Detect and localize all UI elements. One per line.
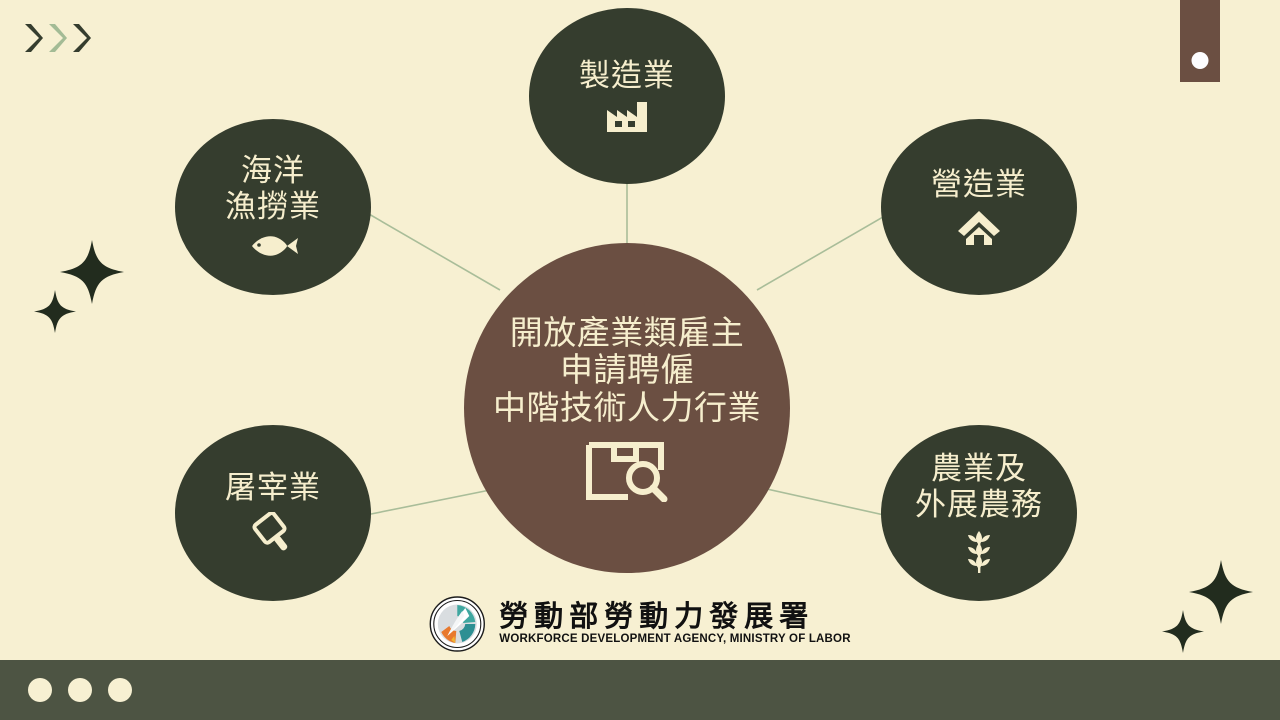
node-ocean-fishery-label: 海洋 漁撈業 xyxy=(225,153,321,223)
chevron-decoration-group xyxy=(22,22,92,54)
bottom-bar-dot-icon xyxy=(28,678,52,702)
fish-icon xyxy=(246,231,300,261)
connector-hub-fishery xyxy=(362,210,500,290)
agency-name-en: WORKFORCE DEVELOPMENT AGENCY, MINISTRY O… xyxy=(499,634,850,646)
factory-icon xyxy=(605,100,649,134)
cleaver-icon xyxy=(250,512,296,556)
connector-hub-slaughter xyxy=(366,487,505,515)
node-agriculture-label: 農業及 外展農務 xyxy=(915,451,1043,521)
bottom-bar-dots xyxy=(28,678,132,702)
house-icon xyxy=(956,209,1002,247)
bottom-bar-dot-icon xyxy=(68,678,92,702)
hub-label: 開放產業類雇主 申請聘僱 中階技術人力行業 xyxy=(493,314,761,426)
bottom-bar-dot-icon xyxy=(108,678,132,702)
chevron-right-icon xyxy=(22,22,44,54)
wheat-icon xyxy=(963,529,995,575)
node-agriculture[interactable]: 農業及 外展農務 xyxy=(881,425,1077,601)
node-manufacturing-label: 製造業 xyxy=(579,58,675,93)
node-construction-label: 營造業 xyxy=(931,167,1027,202)
node-slaughtering-label: 屠宰業 xyxy=(225,470,321,505)
node-ocean-fishery[interactable]: 海洋 漁撈業 xyxy=(175,119,371,295)
package-search-icon xyxy=(584,440,670,502)
chevron-right-icon xyxy=(70,22,92,54)
chevron-right-icon xyxy=(46,22,68,54)
bottom-bar xyxy=(0,660,1280,720)
wda-seal-logo xyxy=(429,596,485,652)
hub-node-open-industries[interactable]: 開放產業類雇主 申請聘僱 中階技術人力行業 xyxy=(464,243,790,573)
corner-tab-dot-icon xyxy=(1192,52,1209,69)
node-manufacturing[interactable]: 製造業 xyxy=(529,8,725,184)
node-construction[interactable]: 營造業 xyxy=(881,119,1077,295)
sparkle-decoration-left xyxy=(30,232,140,337)
connector-hub-agriculture xyxy=(758,487,893,517)
slide-canvas: 開放產業類雇主 申請聘僱 中階技術人力行業 製造業 海洋 漁撈業 xyxy=(0,0,1280,720)
connector-hub-construction xyxy=(757,210,895,290)
agency-brand: 勞動部勞動力發展署 WORKFORCE DEVELOPMENT AGENCY, … xyxy=(429,596,850,652)
agency-brand-text: 勞動部勞動力發展署 WORKFORCE DEVELOPMENT AGENCY, … xyxy=(499,603,850,646)
sparkle-decoration-right xyxy=(1155,552,1270,657)
corner-tab-decoration xyxy=(1180,0,1220,82)
agency-name-zh: 勞動部勞動力發展署 xyxy=(499,603,850,632)
node-slaughtering[interactable]: 屠宰業 xyxy=(175,425,371,601)
